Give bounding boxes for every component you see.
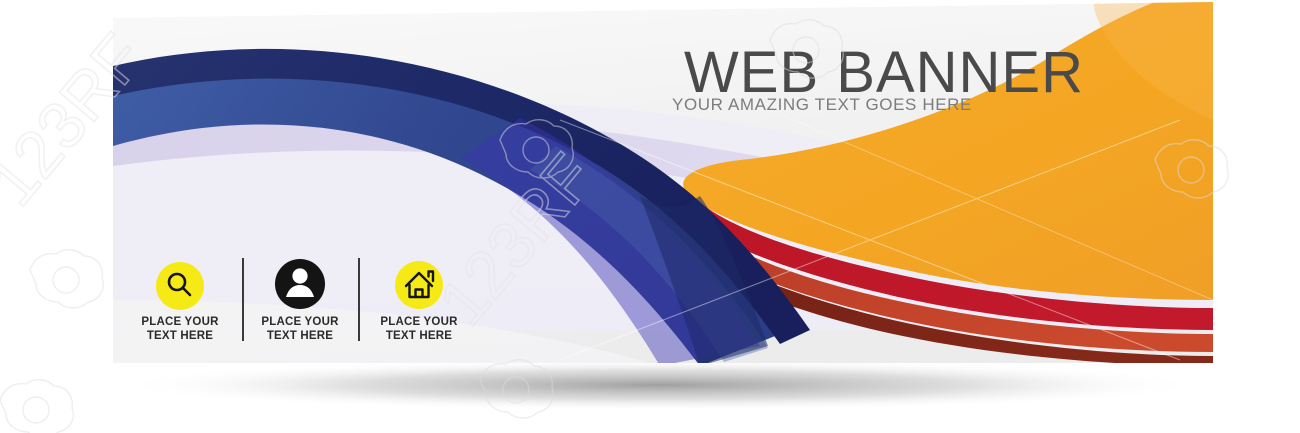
feature-label-line2: TEXT HERE [147,330,213,342]
feature-label-line2: TEXT HERE [386,330,452,342]
banner-artwork: WEB BANNER YOUR AMAZING TEXT GOES HERE P… [0,0,1300,433]
banner-stage: WEB BANNER YOUR AMAZING TEXT GOES HERE P… [0,0,1300,433]
search-icon-circle[interactable] [156,262,204,310]
banner-body: WEB BANNER YOUR AMAZING TEXT GOES HERE P… [100,0,1230,380]
user-icon-circle[interactable] [275,259,325,309]
feature-label-line2: TEXT HERE [267,330,333,342]
feature-label-line1: PLACE YOUR [380,316,458,328]
feature-label-line1: PLACE YOUR [261,316,339,328]
page-subtitle: YOUR AMAZING TEXT GOES HERE [672,95,972,114]
banner-shadow [115,359,1205,411]
feature-label-line1: PLACE YOUR [141,316,219,328]
